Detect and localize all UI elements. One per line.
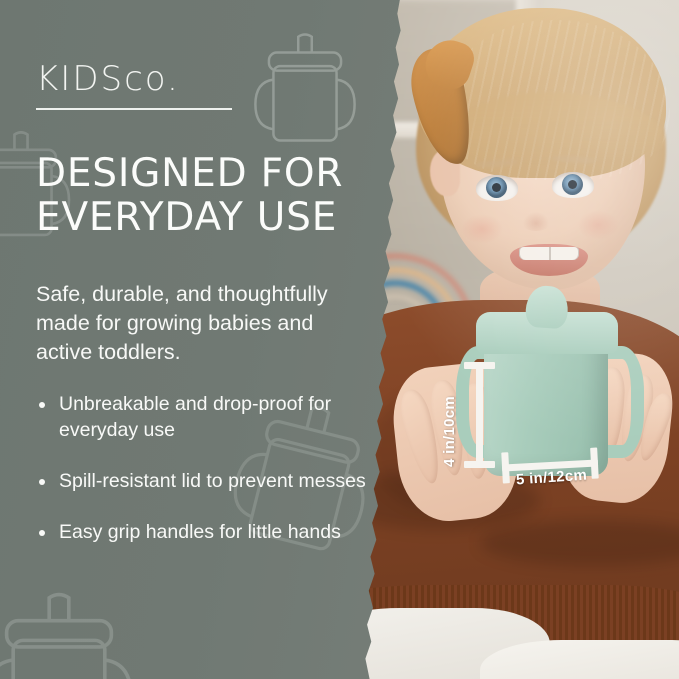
watermark-cup-icon (247, 30, 363, 154)
subheadline: Safe, durable, and thoughtfully made for… (36, 280, 366, 367)
dimension-line-vertical (476, 362, 483, 468)
watermark-cup-icon (0, 588, 144, 679)
list-item: Easy grip handles for little hands (36, 520, 366, 546)
text-panel: KIDSco. DESIGNED FOR EVERYDAY USE Safe, … (0, 0, 420, 679)
brand-logo: KIDSco. (36, 62, 232, 110)
brand-name: KIDSco. (36, 62, 232, 96)
list-item: Spill-resistant lid to prevent messes (36, 469, 366, 495)
logo-underline (36, 108, 232, 110)
list-item: Unbreakable and drop-proof for everyday … (36, 392, 366, 444)
dimension-label-height: 4 in/10cm (441, 396, 458, 467)
feature-list: Unbreakable and drop-proof for everyday … (36, 392, 366, 546)
headline: DESIGNED FOR EVERYDAY USE (36, 152, 376, 240)
marketing-infographic: VA (0, 0, 679, 679)
